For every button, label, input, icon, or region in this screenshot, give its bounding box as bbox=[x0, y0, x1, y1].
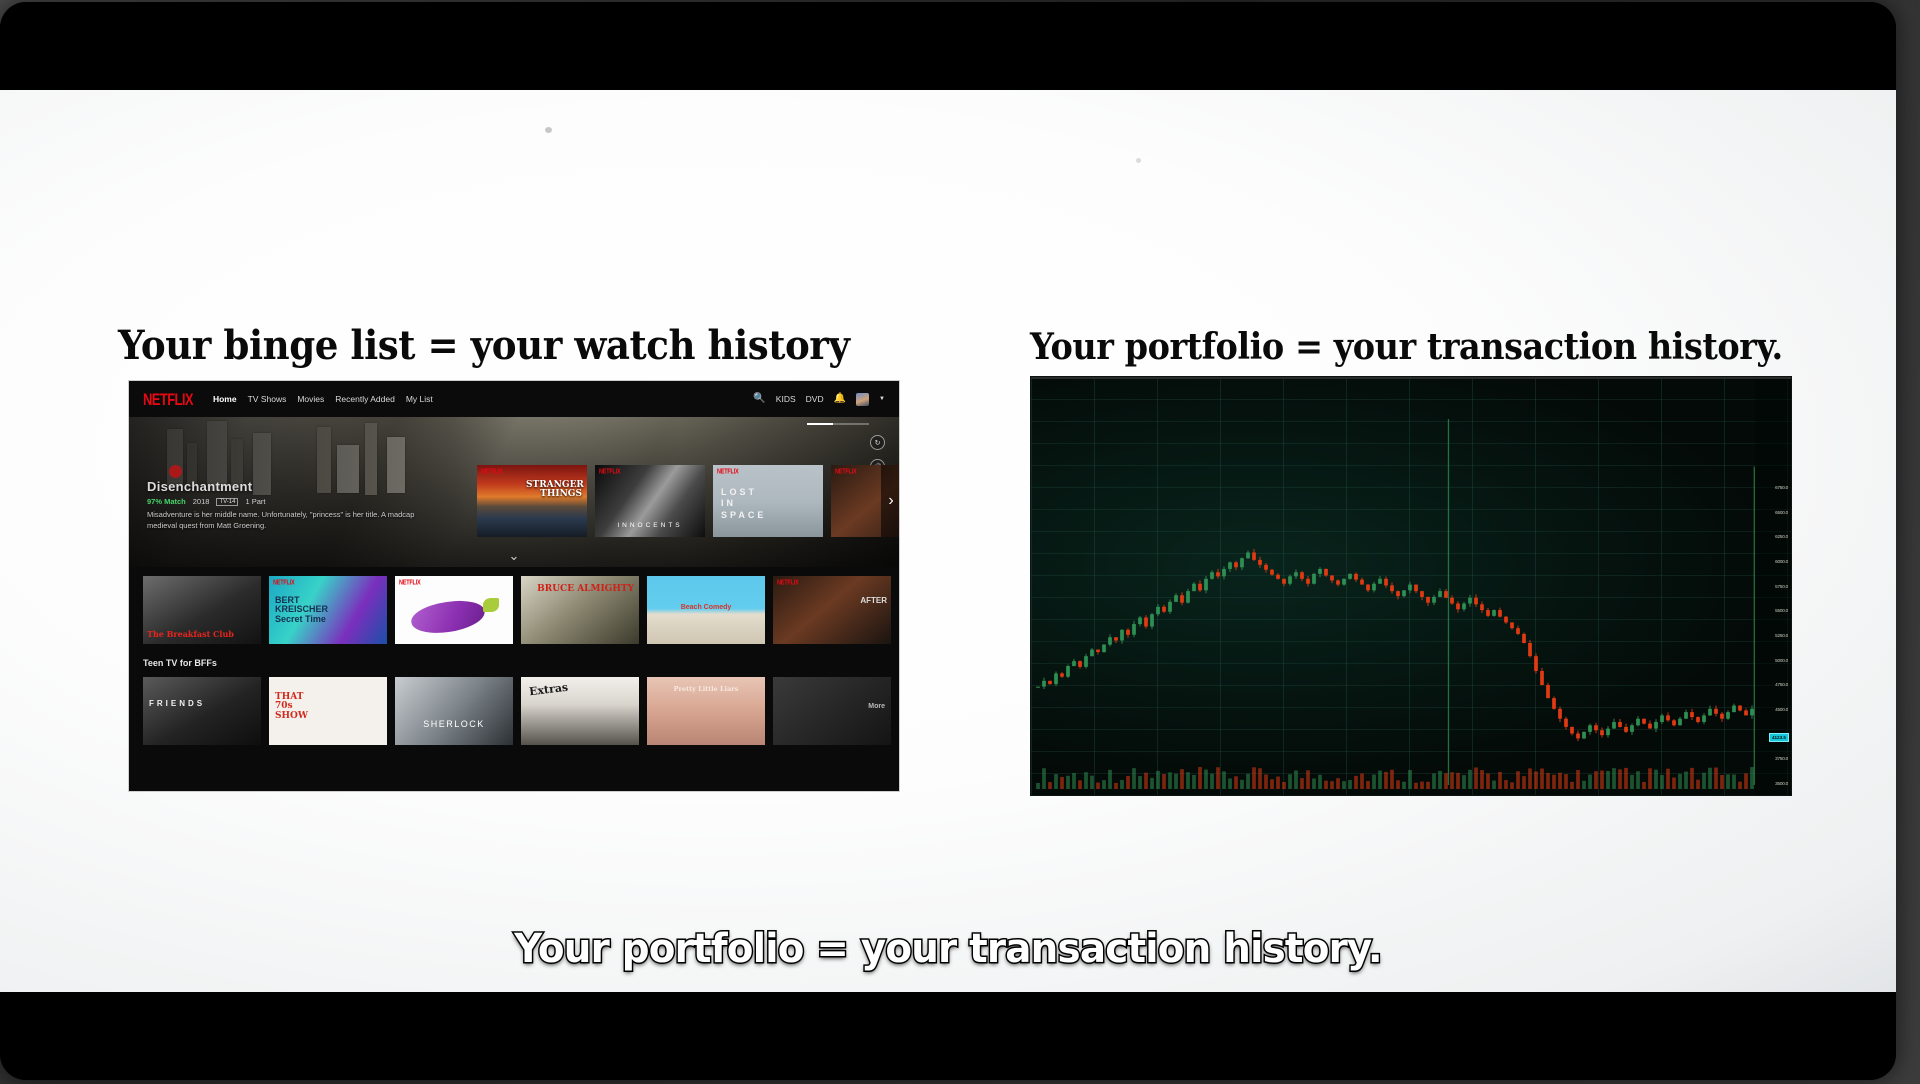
netflix-hero-banner[interactable]: Disenchantment 97% Match 2018 TV-14 1 Pa… bbox=[129, 417, 899, 567]
price-tick: 5000.0 bbox=[1775, 658, 1788, 663]
tile-after-2[interactable]: NETFLIX AFTER bbox=[773, 576, 891, 644]
subtitle-caption: Your portfolio = your transaction histor… bbox=[28, 926, 1867, 972]
netflix-brand-icon: NETFLIX bbox=[273, 579, 295, 587]
tile-title: THAT 70s SHOW bbox=[275, 693, 321, 721]
presentation-slide: Your binge list = your watch history You… bbox=[0, 90, 1896, 992]
hero-info: Disenchantment 97% Match 2018 TV-14 1 Pa… bbox=[147, 479, 447, 532]
nav-item-tv-shows[interactable]: TV Shows bbox=[248, 394, 287, 404]
price-tick: 3500.0 bbox=[1775, 781, 1788, 786]
carousel-next-arrow[interactable]: › bbox=[881, 465, 899, 537]
dust-speck bbox=[545, 127, 552, 133]
trading-chart[interactable]: 6750.06500.06250.06000.05750.05500.05250… bbox=[1030, 376, 1792, 796]
nav-item-kids[interactable]: KIDS bbox=[776, 394, 796, 404]
tile-lost-in-space[interactable]: NETFLIX LOST IN SPACE bbox=[713, 465, 823, 537]
price-tick: 4500.0 bbox=[1775, 707, 1788, 712]
tile-beach-comedy[interactable]: Beach Comedy bbox=[647, 576, 765, 644]
hero-play-button[interactable] bbox=[169, 465, 182, 478]
heading-binge-list: Your binge list = your watch history bbox=[118, 322, 850, 369]
netflix-nav-right: 🔍 KIDS DVD 🔔 ▼ bbox=[753, 393, 885, 406]
tile-title: Pretty Little Liars bbox=[647, 685, 765, 693]
netflix-brand-icon: NETFLIX bbox=[599, 468, 621, 476]
netflix-brand-icon: NETFLIX bbox=[481, 468, 503, 476]
price-tick: 6500.0 bbox=[1775, 510, 1788, 515]
letterbox-bottom bbox=[0, 992, 1896, 1080]
price-tick: 5250.0 bbox=[1775, 633, 1788, 638]
tile-bert-kreischer[interactable]: NETFLIX BERT KREISCHER Secret Time bbox=[269, 576, 387, 644]
netflix-brand-icon: NETFLIX bbox=[399, 579, 421, 587]
profile-avatar[interactable] bbox=[856, 393, 869, 406]
tile-title: The Breakfast Club bbox=[147, 630, 235, 638]
tile-title: Beach Comedy bbox=[647, 604, 765, 611]
price-tick: 4750.0 bbox=[1775, 682, 1788, 687]
tile-eggplant[interactable]: NETFLIX bbox=[395, 576, 513, 644]
heading-portfolio: Your portfolio = your transaction histor… bbox=[1030, 326, 1783, 368]
netflix-top-carousel: NETFLIX STRANGER THINGS NETFLIX INNOCENT… bbox=[477, 465, 899, 537]
hero-description: Misadventure is her middle name. Unfortu… bbox=[147, 510, 437, 532]
current-price-marker: 4123.5 bbox=[1769, 733, 1789, 742]
match-percentage: 97% Match bbox=[147, 497, 186, 506]
price-tick: 6750.0 bbox=[1775, 485, 1788, 490]
netflix-logo[interactable]: NETFLIX bbox=[143, 390, 193, 409]
chevron-down-icon[interactable]: ▼ bbox=[879, 396, 885, 402]
tile-title: STRANGER THINGS bbox=[526, 481, 582, 499]
tile-title: More bbox=[868, 703, 885, 710]
hero-parts: 1 Part bbox=[245, 497, 265, 506]
chevron-down-icon[interactable]: ⌄ bbox=[509, 548, 520, 564]
netflix-screenshot: NETFLIX Home TV Shows Movies Recently Ad… bbox=[128, 380, 900, 792]
tile-friends[interactable]: FRIENDS bbox=[143, 677, 261, 745]
chart-top-border bbox=[1031, 377, 1791, 379]
price-tick: 5750.0 bbox=[1775, 584, 1788, 589]
nav-item-home[interactable]: Home bbox=[213, 394, 237, 404]
search-icon[interactable]: 🔍 bbox=[753, 394, 765, 404]
tile-innocents[interactable]: NETFLIX INNOCENTS bbox=[595, 465, 705, 537]
hero-meta: 97% Match 2018 TV-14 1 Part bbox=[147, 497, 447, 506]
price-tick: 5500.0 bbox=[1775, 608, 1788, 613]
video-player[interactable]: Your binge list = your watch history You… bbox=[0, 2, 1896, 1080]
letterbox-top bbox=[0, 2, 1896, 90]
tile-bruce-almighty[interactable]: BRUCE ALMIGHTY bbox=[521, 576, 639, 644]
tile-title: BRUCE ALMIGHTY bbox=[537, 584, 634, 594]
tile-title: LOST IN SPACE bbox=[721, 487, 773, 521]
netflix-brand-icon: NETFLIX bbox=[717, 468, 739, 476]
tile-title: SHERLOCK bbox=[395, 719, 513, 729]
price-tick: 6000.0 bbox=[1775, 559, 1788, 564]
nav-item-recently-added[interactable]: Recently Added bbox=[335, 394, 395, 404]
tile-extras[interactable]: Extras bbox=[521, 677, 639, 745]
replay-icon[interactable]: ↻ bbox=[870, 435, 885, 450]
screen-root: Your binge list = your watch history You… bbox=[0, 0, 1920, 1084]
tile-title: INNOCENTS bbox=[595, 522, 705, 529]
tile-that-70s-show[interactable]: THAT 70s SHOW bbox=[269, 677, 387, 745]
eggplant-leaf bbox=[483, 598, 499, 612]
tile-title: FRIENDS bbox=[149, 699, 205, 708]
netflix-row-three: FRIENDS THAT 70s SHOW SHERLOCK Extras bbox=[129, 677, 899, 745]
nav-item-my-list[interactable]: My List bbox=[406, 394, 433, 404]
netflix-brand-icon: NETFLIX bbox=[777, 579, 799, 587]
netflix-brand-icon: NETFLIX bbox=[835, 468, 857, 476]
netflix-nav-links: Home TV Shows Movies Recently Added My L… bbox=[213, 394, 433, 404]
candlestick-series bbox=[1031, 377, 1791, 795]
tile-sherlock[interactable]: SHERLOCK bbox=[395, 677, 513, 745]
row-title-teen-tv: Teen TV for BFFs bbox=[129, 658, 899, 668]
notifications-bell-icon[interactable]: 🔔 bbox=[834, 394, 846, 404]
tile-title: BERT KREISCHER Secret Time bbox=[275, 596, 335, 624]
nav-item-dvd[interactable]: DVD bbox=[806, 394, 824, 404]
tile-pretty-little-liars[interactable]: Pretty Little Liars bbox=[647, 677, 765, 745]
tile-more[interactable]: More bbox=[773, 677, 891, 745]
tile-breakfast-club[interactable]: The Breakfast Club bbox=[143, 576, 261, 644]
dust-speck bbox=[1136, 158, 1141, 163]
hero-rating: TV-14 bbox=[216, 498, 238, 506]
price-tick: 6250.0 bbox=[1775, 534, 1788, 539]
nav-item-movies[interactable]: Movies bbox=[297, 394, 324, 404]
netflix-row-two: The Breakfast Club NETFLIX BERT KREISCHE… bbox=[129, 576, 899, 644]
hero-year: 2018 bbox=[193, 497, 210, 506]
tile-stranger-things[interactable]: NETFLIX STRANGER THINGS bbox=[477, 465, 587, 537]
tile-title: AFTER bbox=[860, 596, 887, 605]
price-tick: 3750.0 bbox=[1775, 756, 1788, 761]
hero-title: Disenchantment bbox=[147, 479, 447, 494]
netflix-navbar: NETFLIX Home TV Shows Movies Recently Ad… bbox=[129, 381, 899, 417]
carousel-progress-indicator bbox=[807, 423, 869, 425]
